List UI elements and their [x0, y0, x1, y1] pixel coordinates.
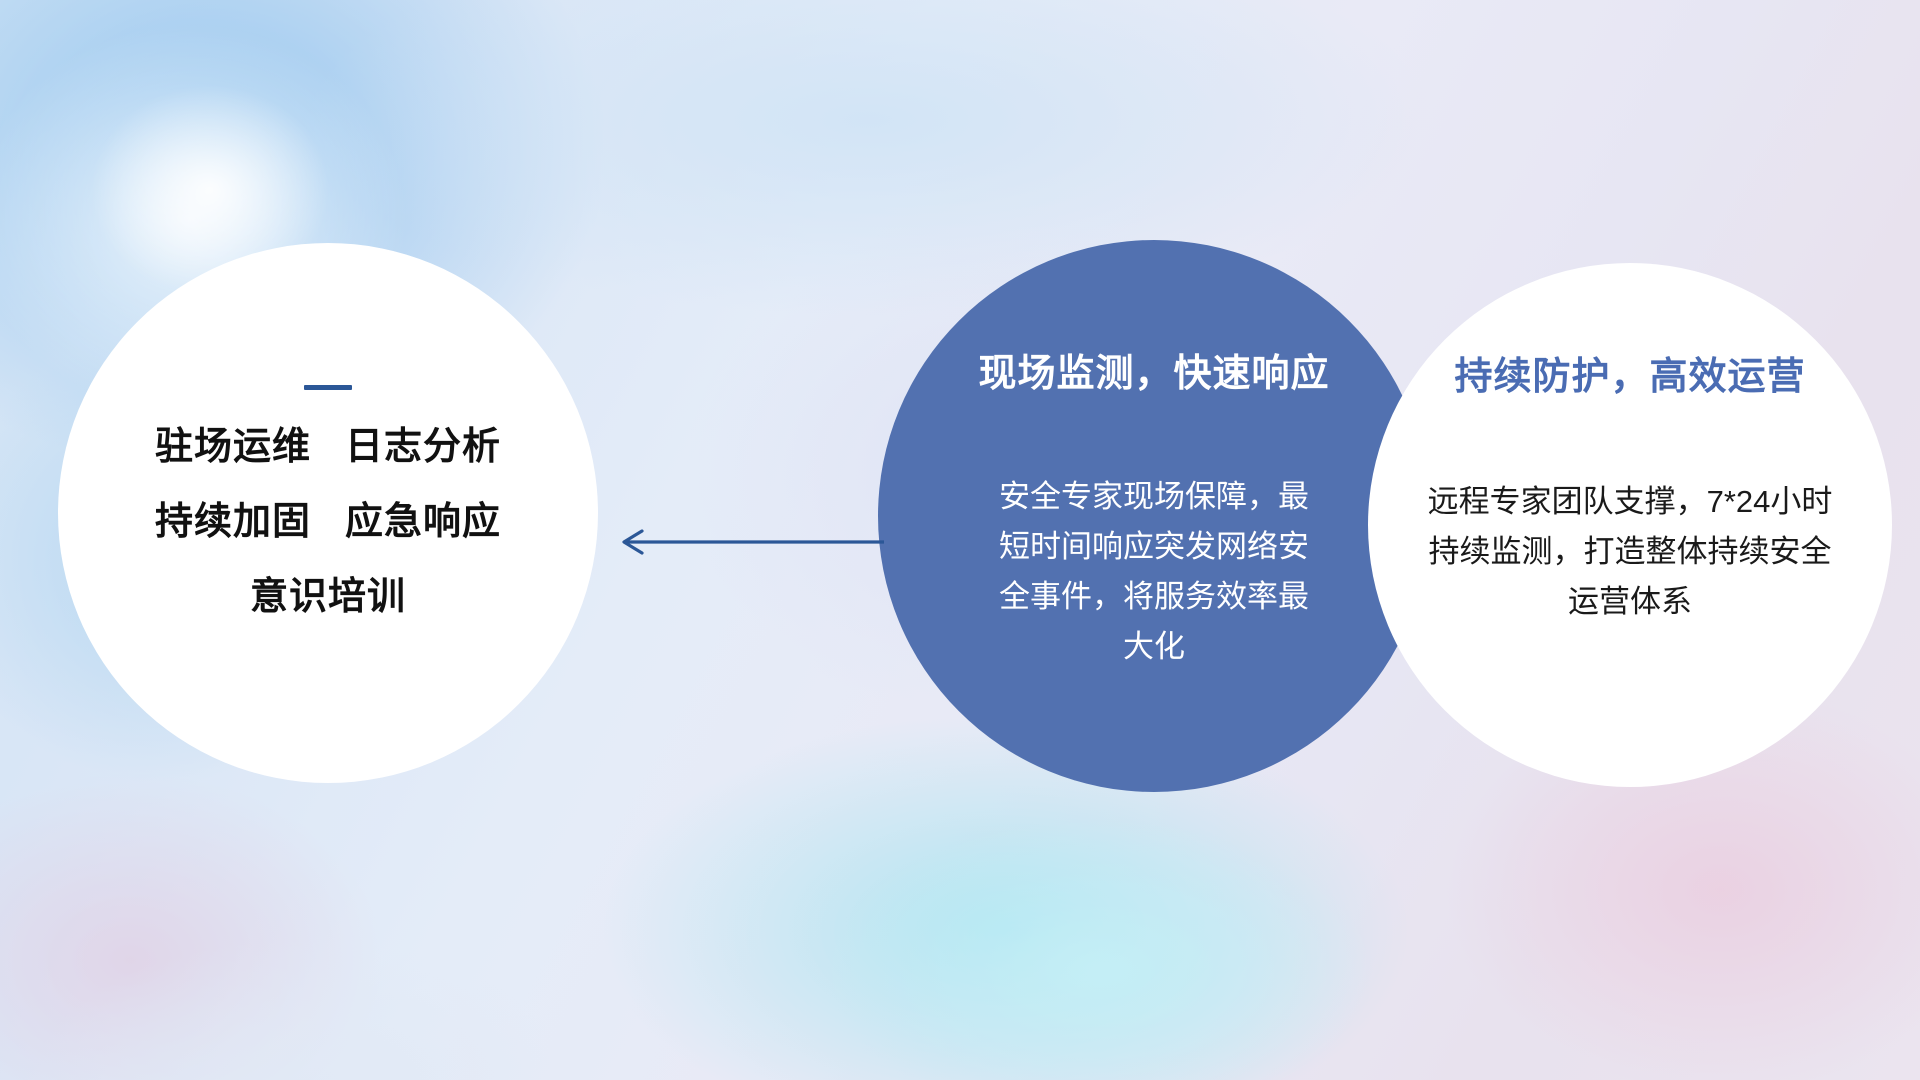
left-item-yingji-xiangying: 应急响应: [345, 501, 501, 543]
left-capability-circle[interactable]: 驻场运维日志分析 持续加固应急响应 意识培训: [58, 243, 598, 783]
right-circle-body: 远程专家团队支撑，7*24小时持续监测，打造整体持续安全运营体系: [1425, 477, 1835, 628]
right-operations-circle[interactable]: 持续防护，高效运营 远程专家团队支撑，7*24小时持续监测，打造整体持续安全运营…: [1368, 263, 1892, 787]
right-circle-title: 持续防护，高效运营: [1386, 355, 1874, 401]
slide-canvas: 驻场运维日志分析 持续加固应急响应 意识培训 现场监测，快速响应 安全专家现场保…: [0, 0, 1920, 1080]
background-glow-bottom-left: [0, 880, 680, 1080]
left-item-zhuchang-yunwei: 驻场运维: [155, 426, 311, 468]
center-circle-title: 现场监测，快速响应: [900, 352, 1408, 398]
left-circle-line-2: 持续加固应急响应: [58, 503, 598, 541]
center-circle-body: 安全专家现场保障，最短时间响应突发网络安全事件，将服务效率最大化: [989, 472, 1319, 673]
left-item-rizhi-fenxi: 日志分析: [345, 426, 501, 468]
divider-dash-icon: [304, 385, 352, 390]
right-circle-content: 持续防护，高效运营 远程专家团队支撑，7*24小时持续监测，打造整体持续安全运营…: [1368, 355, 1892, 627]
center-onsite-circle[interactable]: 现场监测，快速响应 安全专家现场保障，最短时间响应突发网络安全事件，将服务效率最…: [878, 240, 1430, 792]
left-item-yishi-peixun: 意识培训: [250, 576, 406, 618]
left-circle-content: 驻场运维日志分析 持续加固应急响应 意识培训: [58, 385, 598, 616]
left-circle-line-1: 驻场运维日志分析: [58, 428, 598, 466]
left-circle-line-3: 意识培训: [58, 578, 598, 616]
center-circle-content: 现场监测，快速响应 安全专家现场保障，最短时间响应突发网络安全事件，将服务效率最…: [878, 352, 1430, 672]
background-glow-cyan-bottom-core: [720, 760, 1480, 1080]
flow-arrow-left-icon: [612, 528, 884, 556]
left-item-chixu-jiagu: 持续加固: [155, 501, 311, 543]
